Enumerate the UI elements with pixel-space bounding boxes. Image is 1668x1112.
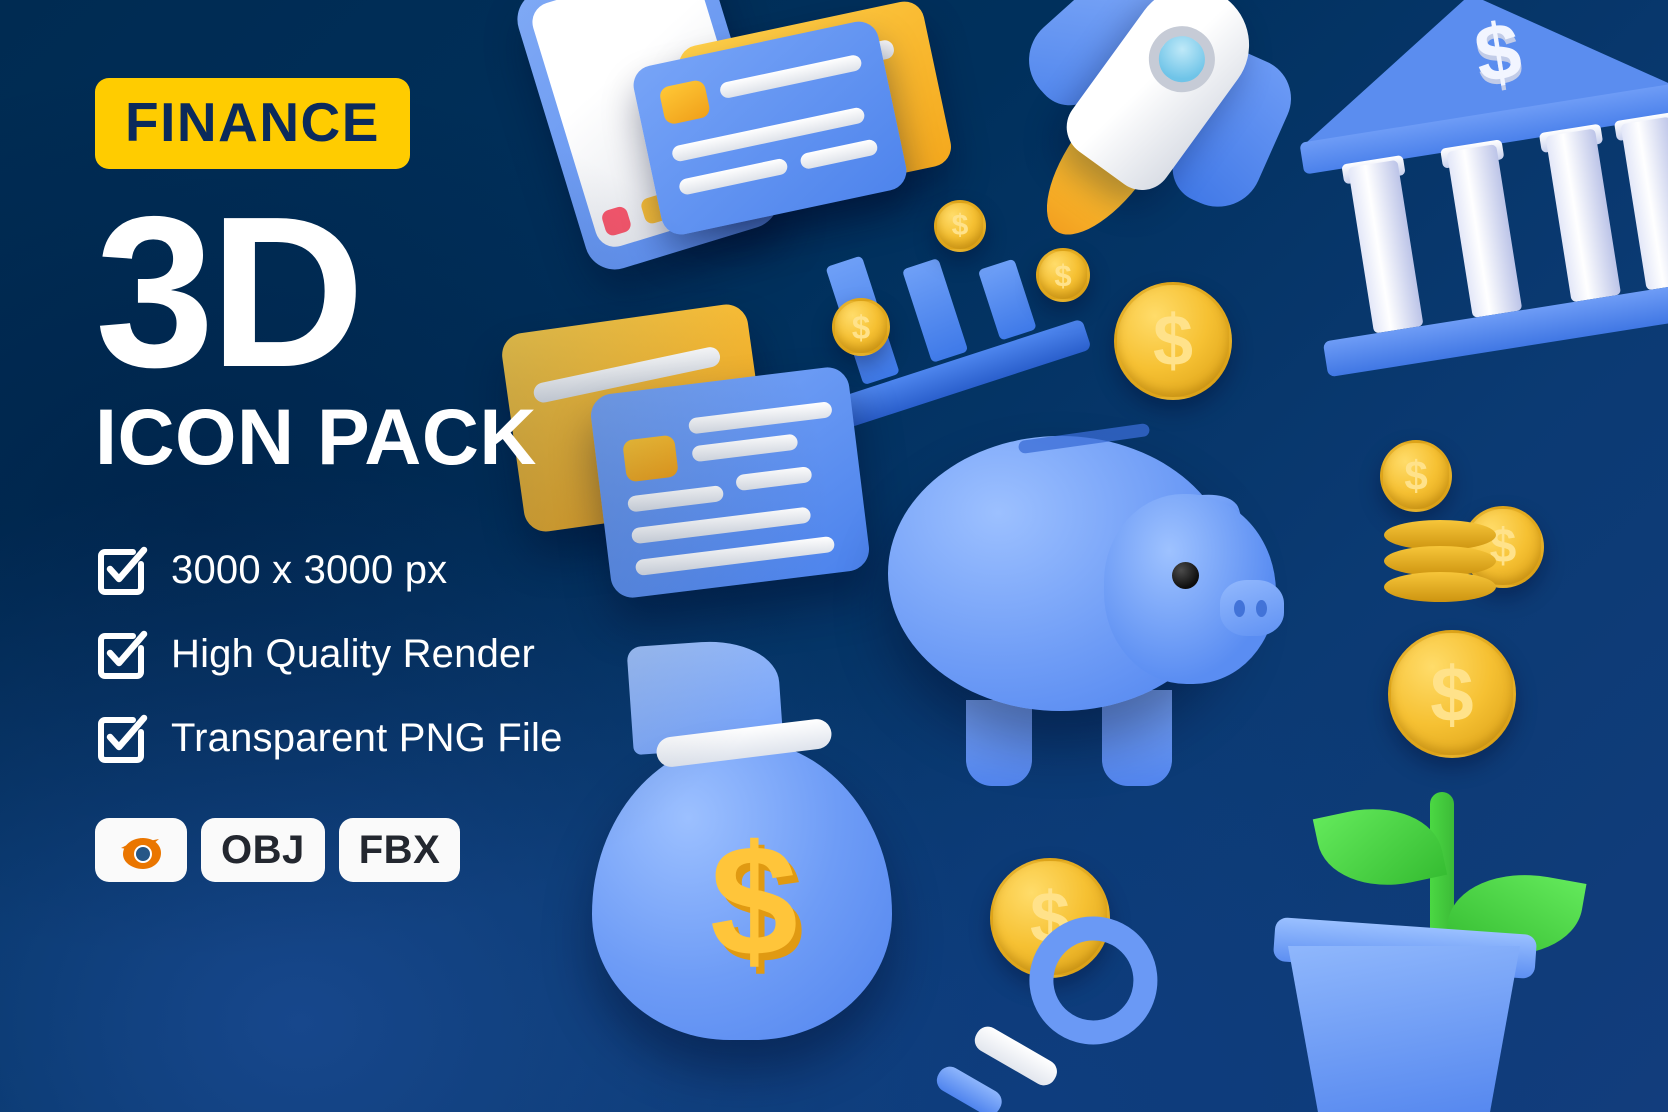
- page-title: 3D: [95, 191, 655, 393]
- checkbox-checked-icon: [95, 712, 147, 764]
- nostril: [1256, 600, 1267, 617]
- dollar-coin-icon: $: [832, 298, 890, 356]
- list-item: 3000 x 3000 px: [95, 544, 655, 596]
- card-line: [799, 138, 879, 170]
- bank-column: [1620, 117, 1668, 291]
- coin-symbol: $: [1430, 655, 1473, 733]
- format-badge-obj[interactable]: OBJ: [201, 818, 325, 882]
- blender-logo-icon: [115, 824, 167, 876]
- card-chip: [658, 79, 711, 126]
- coin-symbol: $: [852, 311, 870, 344]
- dollar-coin-icon: $: [1388, 630, 1516, 758]
- page-subtitle: ICON PACK: [95, 397, 655, 476]
- list-item-label: 3000 x 3000 px: [171, 548, 447, 593]
- magnifier-handle-white: [970, 1022, 1061, 1090]
- card-line: [635, 536, 835, 576]
- piggy-leg: [966, 700, 1032, 786]
- card-line: [691, 434, 798, 463]
- dollar-coin-icon: $: [1036, 248, 1090, 302]
- magnifier-ring: [1023, 910, 1164, 1051]
- card-line: [678, 157, 789, 196]
- bank-column: [1545, 129, 1621, 303]
- list-item: High Quality Render: [95, 628, 655, 680]
- magnifying-glass-icon: [950, 888, 1211, 1112]
- magnifier-handle-blue: [932, 1062, 1006, 1112]
- nostril: [1234, 600, 1245, 617]
- dollar-coin-icon: $: [1114, 282, 1232, 400]
- dollar-coin-icon: $: [1380, 440, 1452, 512]
- checkbox-checked-icon: [95, 628, 147, 680]
- dollar-coin-icon: $: [934, 200, 986, 252]
- list-item-label: Transparent PNG File: [171, 716, 563, 761]
- bank-building-icon: $: [1273, 0, 1668, 401]
- piggy-snout: [1220, 580, 1284, 636]
- feature-list: 3000 x 3000 px High Quality Render: [95, 544, 655, 764]
- coin-symbol: $: [952, 211, 969, 241]
- bag-dollar-symbol: $: [710, 822, 798, 980]
- checkbox-checked-icon: [95, 544, 147, 596]
- coin-symbol: $: [1054, 260, 1071, 291]
- list-item-label: High Quality Render: [171, 632, 535, 677]
- format-badge-label: FBX: [359, 828, 441, 873]
- chart-bar: [902, 258, 968, 363]
- card-line: [631, 506, 812, 544]
- format-badge-fbx[interactable]: FBX: [339, 818, 461, 882]
- plant-leaf-left: [1313, 794, 1447, 899]
- stack-disc: [1384, 572, 1496, 602]
- format-badge-row: OBJ FBX: [95, 818, 655, 882]
- card-line: [688, 401, 833, 434]
- coin-symbol: $: [1404, 455, 1427, 497]
- text-panel: FINANCE 3D ICON PACK 3000 x 3000 px: [95, 0, 655, 1112]
- poster-canvas: $ $ $ $ $ $ $ $ $: [0, 0, 1668, 1112]
- category-badge: FINANCE: [95, 78, 410, 169]
- flower-pot: [1288, 946, 1520, 1112]
- piggy-eye: [1172, 562, 1199, 589]
- format-badge-blender[interactable]: [95, 818, 187, 882]
- card-line: [719, 54, 863, 100]
- card-line: [735, 466, 812, 491]
- coin-symbol: $: [1153, 305, 1193, 377]
- chart-bar: [978, 259, 1037, 341]
- bank-column: [1348, 160, 1424, 334]
- money-plant-icon: [1272, 748, 1668, 1112]
- list-item: Transparent PNG File: [95, 712, 655, 764]
- bank-column: [1447, 144, 1523, 318]
- coin-stack-icon: [1384, 520, 1524, 610]
- piggy-bank-icon: [868, 408, 1288, 838]
- format-badge-label: OBJ: [221, 828, 305, 873]
